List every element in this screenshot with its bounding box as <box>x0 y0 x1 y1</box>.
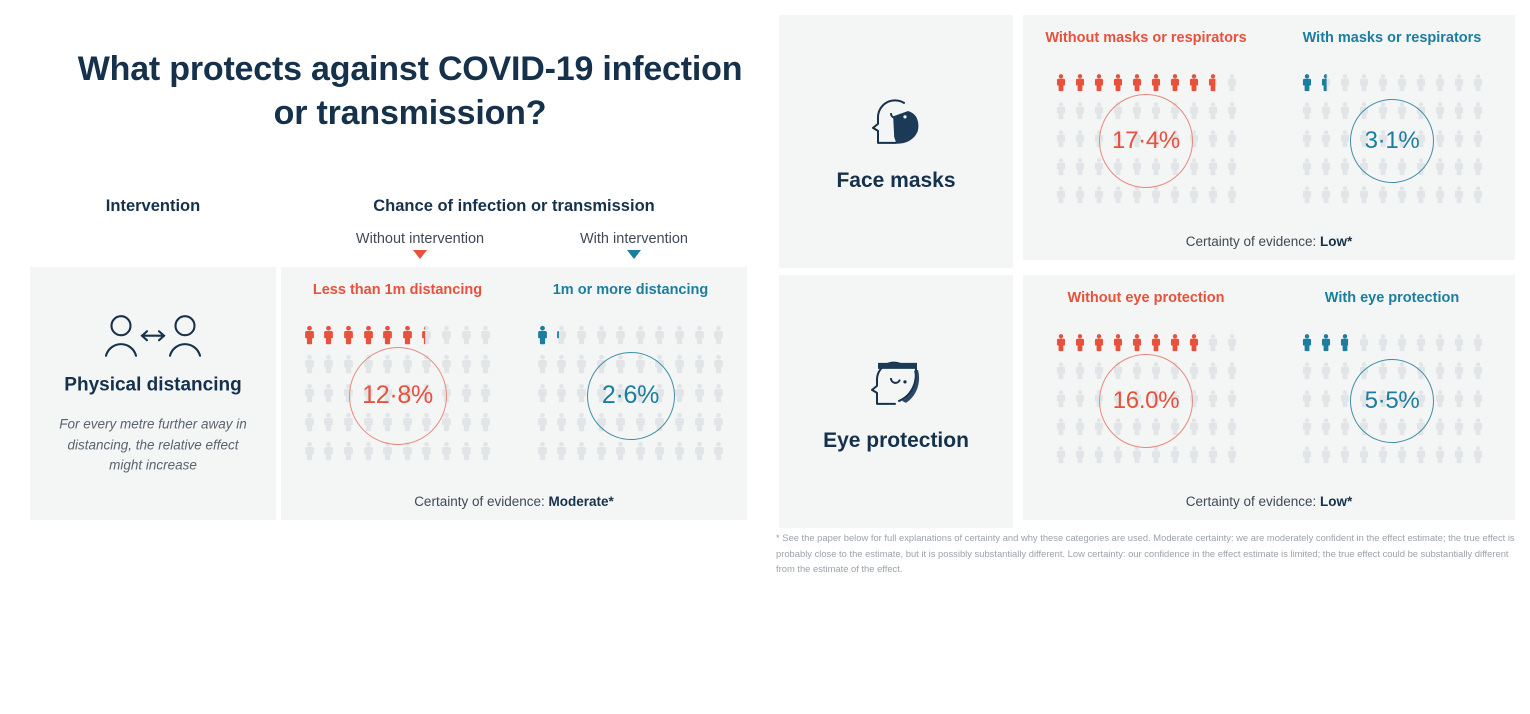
value-badge-with: 2·6% <box>587 352 675 440</box>
pictogram-person <box>670 439 690 468</box>
page-title: What protects against COVID-19 infection… <box>60 48 760 135</box>
pictogram-person <box>358 323 378 352</box>
pictogram-person <box>1297 331 1316 359</box>
subheader-with-intervention: With intervention <box>520 231 748 259</box>
pictogram-person <box>300 410 320 439</box>
pictogram-person <box>1430 71 1449 99</box>
pictogram-person <box>1316 99 1335 127</box>
pictogram-person <box>339 323 359 352</box>
footnote-certainty-explanation: * See the paper below for full explanati… <box>776 530 1516 577</box>
pictogram-person <box>1373 443 1392 471</box>
certainty-value: Low* <box>1320 234 1352 249</box>
group-without-eye-protection: Without eye protection 16.0% <box>1023 275 1269 520</box>
pictogram-person <box>1430 415 1449 443</box>
pictogram-person <box>1108 331 1127 359</box>
pictogram-person <box>1089 183 1108 211</box>
group-with-face-masks: With masks or respirators 3·1% <box>1269 15 1515 260</box>
pictogram-person <box>1051 99 1070 127</box>
pictogram-person <box>670 352 690 381</box>
pictogram-person <box>1354 183 1373 211</box>
pictogram-person <box>319 410 339 439</box>
pictogram-person <box>476 352 496 381</box>
pictogram-person <box>1316 183 1335 211</box>
pictogram-person <box>437 323 457 352</box>
panel-chart-physical-distancing: Less than 1m distancing 12·8% 1m or more… <box>281 267 747 520</box>
pictogram-person <box>1203 443 1222 471</box>
pictogram-person <box>1051 155 1070 183</box>
pictogram-person <box>689 439 709 468</box>
pictogram-person <box>417 439 437 468</box>
pictogram-person <box>1203 155 1222 183</box>
subheader-with-label: With intervention <box>580 231 688 247</box>
group-with-eye-protection: With eye protection 5·5% <box>1269 275 1515 520</box>
pictogram-person <box>1468 387 1487 415</box>
pictogram-person <box>611 323 631 352</box>
pictogram-person <box>1316 443 1335 471</box>
pictogram-person <box>1184 331 1203 359</box>
pictogram-person <box>1430 331 1449 359</box>
pictogram-person <box>1468 71 1487 99</box>
pictogram-person <box>1222 387 1241 415</box>
pictogram-person <box>1203 99 1222 127</box>
pictogram-person <box>1392 331 1411 359</box>
pictogram-person <box>300 381 320 410</box>
pictogram-person <box>1373 331 1392 359</box>
group-title-without: Without eye protection <box>1023 289 1269 307</box>
pictogram-person <box>1222 127 1241 155</box>
group-title-with: With eye protection <box>1269 289 1515 307</box>
pictogram-person <box>1449 359 1468 387</box>
pictogram-person <box>1222 443 1241 471</box>
group-title-with: With masks or respirators <box>1269 29 1515 47</box>
pictogram-person <box>1449 183 1468 211</box>
pictogram-person <box>1354 331 1373 359</box>
pictogram-person <box>1297 71 1316 99</box>
pictogram-person <box>1316 155 1335 183</box>
panel-title-face-masks: Face masks <box>779 167 1013 192</box>
pictogram-person <box>1430 359 1449 387</box>
pictogram-person <box>1203 127 1222 155</box>
value-badge-without: 16.0% <box>1099 354 1193 448</box>
pictogram-person <box>1411 71 1430 99</box>
pictogram-person <box>456 323 476 352</box>
pictogram-person <box>1165 443 1184 471</box>
pictogram-person <box>319 352 339 381</box>
pictogram-person <box>552 381 572 410</box>
pictogram-person <box>1449 99 1468 127</box>
group-without-physical-distancing: Less than 1m distancing 12·8% <box>281 267 514 520</box>
pictogram-person <box>1089 71 1108 99</box>
certainty-of-evidence: Certainty of evidence: Moderate* <box>281 494 747 509</box>
pictogram-person <box>1070 443 1089 471</box>
pictogram-person <box>689 352 709 381</box>
pictogram-person <box>1203 387 1222 415</box>
group-title-with: 1m or more distancing <box>514 281 747 299</box>
pictogram-person <box>1392 183 1411 211</box>
pictogram-person <box>1089 331 1108 359</box>
pictogram-person <box>1468 183 1487 211</box>
pictogram-person <box>1316 359 1335 387</box>
pictogram-person <box>456 410 476 439</box>
pictogram-person <box>1051 359 1070 387</box>
pictogram-person <box>1430 155 1449 183</box>
pictogram-person <box>456 352 476 381</box>
pictogram-person <box>689 410 709 439</box>
panel-label-face-masks: Face masks <box>779 15 1013 268</box>
subheader-without-label: Without intervention <box>356 231 484 247</box>
pictogram-person <box>1335 331 1354 359</box>
pictogram-person <box>1222 155 1241 183</box>
pictogram-person <box>1297 155 1316 183</box>
pictogram-person <box>1335 415 1354 443</box>
pictogram-person <box>300 439 320 468</box>
pictogram-person <box>670 410 690 439</box>
pictogram-person <box>1222 71 1241 99</box>
pictogram-person <box>552 323 572 352</box>
panel-chart-eye-protection: Without eye protection 16.0% With eye pr… <box>1023 275 1515 520</box>
pictogram-person <box>709 381 729 410</box>
pictogram-person <box>650 439 670 468</box>
pictogram-person <box>709 410 729 439</box>
certainty-of-evidence: Certainty of evidence: Low* <box>1023 234 1515 249</box>
column-header-intervention: Intervention <box>30 197 276 216</box>
triangle-down-blue-icon <box>627 250 641 259</box>
pictogram-person <box>1354 71 1373 99</box>
pictogram-person <box>1335 359 1354 387</box>
pictogram-person <box>689 323 709 352</box>
pictogram-person <box>476 381 496 410</box>
group-title-without: Less than 1m distancing <box>281 281 514 299</box>
group-without-face-masks: Without masks or respirators 17·4% <box>1023 15 1269 260</box>
pictogram-person <box>1297 415 1316 443</box>
pictogram-person <box>417 323 437 352</box>
pictogram-person <box>631 323 651 352</box>
value-badge-without: 17·4% <box>1099 94 1193 188</box>
pictogram-person <box>1203 331 1222 359</box>
pictogram-person <box>1468 443 1487 471</box>
pictogram-person <box>1184 71 1203 99</box>
pictogram-person <box>572 410 592 439</box>
pictogram-person <box>1316 71 1335 99</box>
pictogram-person <box>1184 183 1203 211</box>
certainty-prefix: Certainty of evidence: <box>414 494 545 509</box>
pictogram-person <box>1468 359 1487 387</box>
panel-label-physical-distancing: Physical distancing For every metre furt… <box>30 267 276 520</box>
pictogram-person <box>1222 183 1241 211</box>
pictogram-person <box>1297 387 1316 415</box>
pictogram-person <box>709 323 729 352</box>
pictogram-person <box>358 439 378 468</box>
pictogram-person <box>1411 443 1430 471</box>
pictogram-person <box>1070 331 1089 359</box>
pictogram-person <box>1335 71 1354 99</box>
pictogram-person <box>437 439 457 468</box>
pictogram-person <box>300 323 320 352</box>
pictogram-person <box>533 352 553 381</box>
pictogram-person <box>1070 183 1089 211</box>
pictogram-person <box>1468 415 1487 443</box>
pictogram-person <box>1297 99 1316 127</box>
pictogram-person <box>709 439 729 468</box>
pictogram-person <box>1051 127 1070 155</box>
two-people-distance-icon <box>30 311 276 364</box>
pictogram-person <box>319 439 339 468</box>
pictogram-person <box>1108 183 1127 211</box>
pictogram-person <box>631 439 651 468</box>
pictogram-person <box>1468 155 1487 183</box>
infographic-root: What protects against COVID-19 infection… <box>0 0 1530 714</box>
pictogram-person <box>1335 443 1354 471</box>
value-badge-without: 12·8% <box>349 347 447 445</box>
pictogram-person <box>1373 183 1392 211</box>
pictogram-person <box>1449 415 1468 443</box>
pictogram-person <box>1449 387 1468 415</box>
pictogram-person <box>1411 331 1430 359</box>
pictogram-person <box>1203 415 1222 443</box>
pictogram-person <box>456 439 476 468</box>
pictogram-person <box>319 381 339 410</box>
pictogram-person <box>572 352 592 381</box>
pictogram-person <box>1165 71 1184 99</box>
panel-note-physical-distancing: For every metre further away in distanci… <box>30 415 276 476</box>
pictogram-person <box>1335 183 1354 211</box>
certainty-value: Low* <box>1320 494 1352 509</box>
pictogram-person <box>300 352 320 381</box>
pictogram-person <box>476 323 496 352</box>
pictogram-person <box>1316 127 1335 155</box>
triangle-down-red-icon <box>413 250 427 259</box>
pictogram-person <box>1070 359 1089 387</box>
pictogram-person <box>456 381 476 410</box>
pictogram-person <box>1449 71 1468 99</box>
pictogram-person <box>1316 415 1335 443</box>
certainty-prefix: Certainty of evidence: <box>1186 494 1317 509</box>
panel-label-eye-protection: Eye protection <box>779 275 1013 528</box>
pictogram-person <box>1297 127 1316 155</box>
pictogram-person <box>1411 183 1430 211</box>
pictogram-person <box>1297 183 1316 211</box>
group-with-physical-distancing: 1m or more distancing 2·6% <box>514 267 747 520</box>
pictogram-person <box>1449 331 1468 359</box>
pictogram-person <box>1070 387 1089 415</box>
pictogram-person <box>1430 183 1449 211</box>
pictogram-person <box>476 439 496 468</box>
pictogram-person <box>1468 127 1487 155</box>
pictogram-person <box>1070 127 1089 155</box>
pictogram-person <box>552 352 572 381</box>
pictogram-person <box>650 323 670 352</box>
certainty-of-evidence: Certainty of evidence: Low* <box>1023 494 1515 509</box>
pictogram-person <box>1335 99 1354 127</box>
panel-title-physical-distancing: Physical distancing <box>30 374 276 397</box>
pictogram-person <box>533 381 553 410</box>
pictogram-person <box>1222 99 1241 127</box>
face-shield-head-icon <box>779 350 1013 417</box>
pictogram-person <box>611 439 631 468</box>
pictogram-person <box>1165 331 1184 359</box>
pictogram-person <box>1430 443 1449 471</box>
column-header-chance: Chance of infection or transmission <box>281 197 747 216</box>
pictogram-person <box>1468 99 1487 127</box>
pictogram-person <box>1297 359 1316 387</box>
pictogram-person <box>1222 415 1241 443</box>
pictogram-person <box>1203 359 1222 387</box>
pictogram-person <box>670 323 690 352</box>
pictogram-person <box>1354 443 1373 471</box>
pictogram-person <box>591 323 611 352</box>
pictogram-person <box>552 439 572 468</box>
pictogram-person <box>476 410 496 439</box>
pictogram-person <box>1449 155 1468 183</box>
pictogram-person <box>1165 183 1184 211</box>
pictogram-person <box>1335 155 1354 183</box>
panel-title-eye-protection: Eye protection <box>779 427 1013 452</box>
pictogram-person <box>1392 443 1411 471</box>
pictogram-person <box>552 410 572 439</box>
pictogram-person <box>1297 443 1316 471</box>
pictogram-person <box>533 439 553 468</box>
pictogram-person <box>319 323 339 352</box>
pictogram-person <box>1070 155 1089 183</box>
pictogram-person <box>1070 71 1089 99</box>
subheader-without-intervention: Without intervention <box>300 231 540 259</box>
pictogram-person <box>1316 387 1335 415</box>
pictogram-person <box>1222 359 1241 387</box>
panel-chart-face-masks: Without masks or respirators 17·4% With … <box>1023 15 1515 260</box>
pictogram-person <box>1449 443 1468 471</box>
pictogram-person <box>1316 331 1335 359</box>
certainty-prefix: Certainty of evidence: <box>1186 234 1317 249</box>
pictogram-person <box>1449 127 1468 155</box>
pictogram-person <box>572 323 592 352</box>
pictogram-person <box>1373 71 1392 99</box>
pictogram-person <box>1051 71 1070 99</box>
pictogram-person <box>1468 331 1487 359</box>
pictogram-person <box>689 381 709 410</box>
pictogram-person <box>1222 331 1241 359</box>
pictogram-person <box>709 352 729 381</box>
pictogram-person <box>339 439 359 468</box>
value-badge-with: 3·1% <box>1350 99 1434 183</box>
pictogram-person <box>1070 415 1089 443</box>
pictogram-person <box>1392 71 1411 99</box>
pictogram-person <box>1051 443 1070 471</box>
pictogram-person <box>533 410 553 439</box>
pictogram-person <box>591 439 611 468</box>
pictogram-person <box>1070 99 1089 127</box>
pictogram-person <box>572 439 592 468</box>
certainty-value: Moderate* <box>549 494 614 509</box>
pictogram-person <box>1089 443 1108 471</box>
pictogram-person <box>1108 443 1127 471</box>
pictogram-person <box>1051 415 1070 443</box>
group-title-without: Without masks or respirators <box>1023 29 1269 47</box>
pictogram-person <box>1184 443 1203 471</box>
pictogram-person <box>1051 183 1070 211</box>
pictogram-person <box>1430 99 1449 127</box>
pictogram-person <box>533 323 553 352</box>
pictogram-person <box>1203 183 1222 211</box>
masked-head-icon <box>779 90 1013 157</box>
pictogram-person <box>1051 331 1070 359</box>
pictogram-person <box>1051 387 1070 415</box>
pictogram-person <box>1203 71 1222 99</box>
pictogram-person <box>1108 71 1127 99</box>
value-badge-with: 5·5% <box>1350 359 1434 443</box>
